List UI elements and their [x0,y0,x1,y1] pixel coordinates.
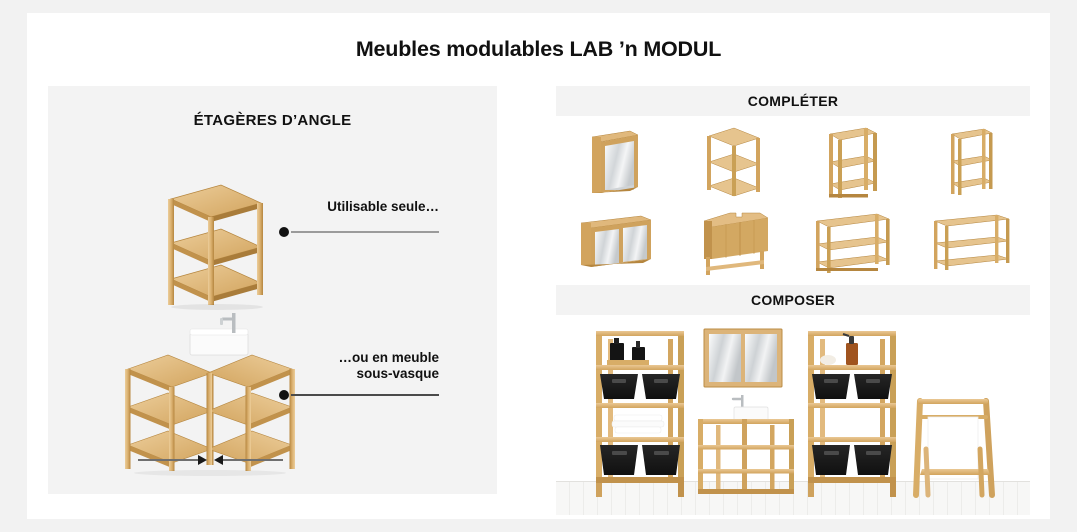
dim-line-left [138,459,200,461]
completer-band: COMPLÉTER [556,86,1030,116]
product-shelf-extra-wide[interactable] [912,203,1031,283]
callout-label: Utilisable seule… [279,199,439,215]
left-panel-title: ÉTAGÈRES D’ANGLE [48,112,497,129]
basin [190,329,248,355]
callout-line [291,394,439,396]
shelf-right-tall [808,331,896,497]
completer-product-grid [556,123,1030,283]
product-tall-shelf-narrow[interactable] [793,123,912,203]
page-canvas: Meubles modulables LAB ’n MODUL ÉTAGÈRES… [27,13,1050,519]
product-mirror-cabinet-single[interactable] [556,123,675,203]
product-mirror-cabinet-double[interactable] [556,203,675,283]
composer-scene[interactable] [556,319,1030,515]
left-panel-etageres-dangle: ÉTAGÈRES D’ANGLE [48,86,497,494]
completer-title: COMPLÉTER [556,86,1030,116]
product-corner-shelf-unit[interactable] [675,123,794,203]
callout-dot [279,227,289,237]
corner-shelf-single-illustration [153,181,293,311]
shelf-left-tall [596,331,684,497]
width-arrows [138,455,283,465]
callout-line [291,231,439,233]
composer-title: COMPOSER [556,285,1030,315]
dim-arrow-right [198,455,207,465]
composer-band: COMPOSER [556,285,1030,315]
product-shelf-narrow-open[interactable] [912,123,1031,203]
towel-valet [916,399,992,495]
product-shelf-wide-3tier[interactable] [793,203,912,283]
dim-arrow-left [214,455,223,465]
callout-label: …ou en meuble sous-vasque [279,350,439,382]
vanity-corner-shelves [698,395,794,494]
callout-ou-en-meuble-sous-vasque: …ou en meuble sous-vasque [279,350,439,398]
page-title: Meubles modulables LAB ’n MODUL [27,37,1050,62]
callout-dot [279,390,289,400]
product-under-sink-cabinet[interactable] [675,203,794,283]
vanity-left [125,355,214,471]
mirror-cabinet-double [704,329,782,387]
callout-utilisable-seule: Utilisable seule… [279,199,439,235]
screenshot-root: Meubles modulables LAB ’n MODUL ÉTAGÈRES… [0,0,1077,532]
dim-line-right [223,459,283,461]
